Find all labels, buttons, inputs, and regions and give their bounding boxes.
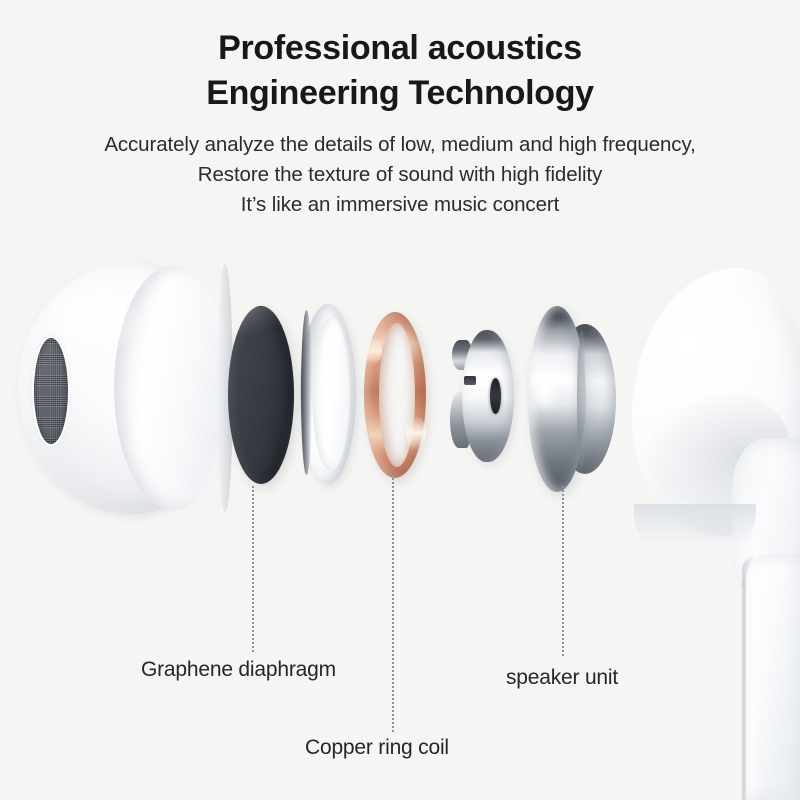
copper-ring-highlight-top [364,338,382,364]
leader-line-graphene [252,486,254,652]
callout-label-speaker-unit: speaker unit [506,666,618,690]
mesh-grille-icon [34,338,68,444]
magnet-highlight [534,368,560,412]
magnet-seam [577,330,586,468]
voice-coil-body [462,330,514,462]
earbud-shell-part [18,262,230,514]
voice-coil-terminal-part [452,330,514,462]
earphone-body-part [614,268,800,800]
copper-ring-highlight-bottom [406,416,426,450]
support-ring-part [300,304,356,484]
graphene-diaphragm-part [228,306,294,484]
support-ring-inner [312,317,350,471]
copper-ring-coil-part [364,312,426,478]
magnet-speaker-unit-part [528,306,616,492]
callout-label-copper-ring-coil: Copper ring coil [305,736,449,760]
callout-label-graphene-diaphragm: Graphene diaphragm [141,658,336,682]
voice-coil-notch [464,376,476,385]
exploded-view-diagram: Graphene diaphragm Copper ring coil spea… [0,0,800,800]
leader-line-copper [392,474,394,732]
earphone-stem [746,554,800,800]
leader-line-speaker [562,486,564,656]
voice-coil-slot [490,378,501,414]
graphene-diaphragm-highlight [230,307,290,337]
support-ring-edge [301,310,312,475]
